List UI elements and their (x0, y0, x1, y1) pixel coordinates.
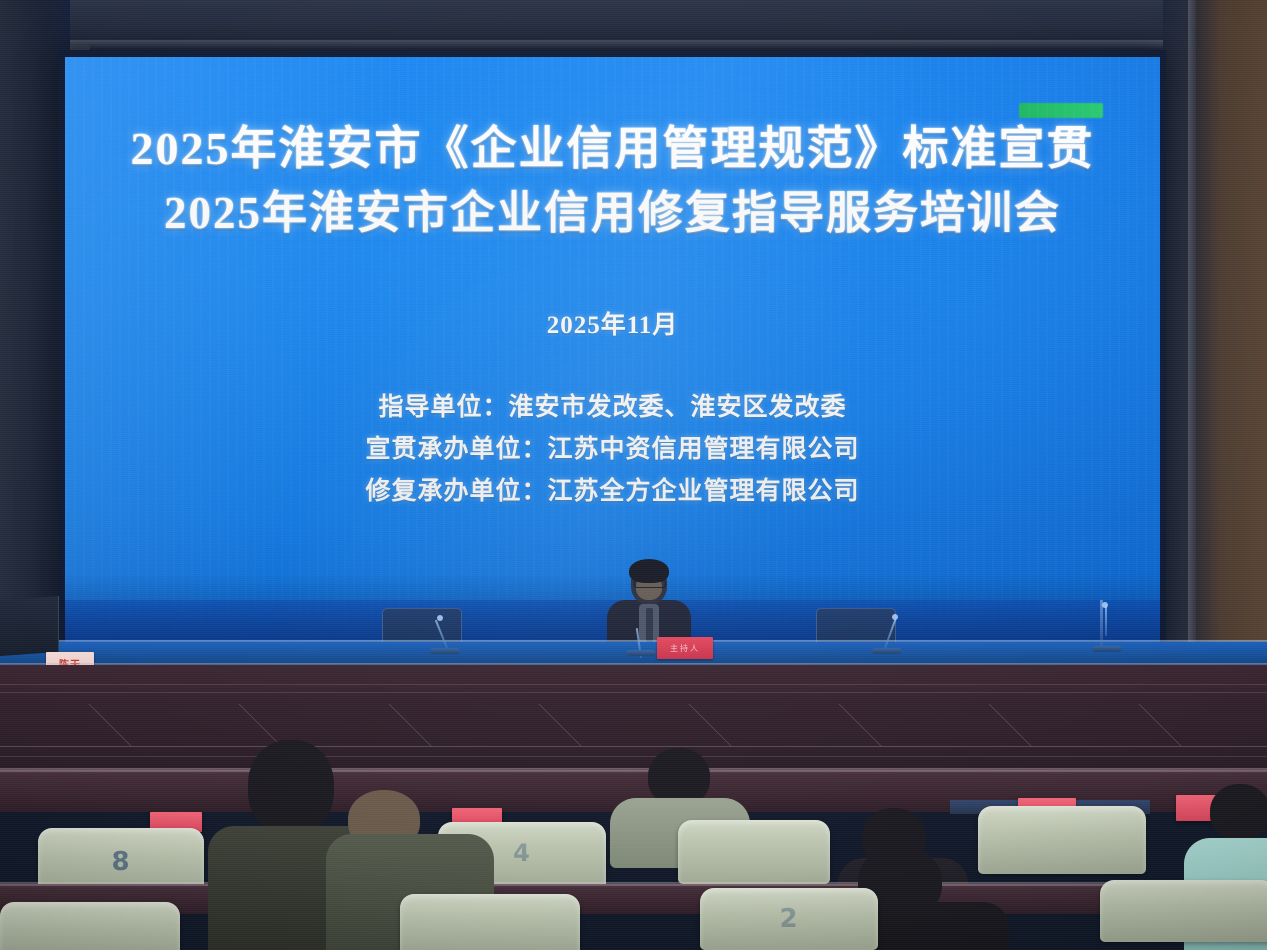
seat-number-8: 8 (38, 847, 204, 877)
audience-desk-row-near-top (0, 882, 1267, 887)
microphone-4-base (626, 650, 656, 656)
microphone-2-head (892, 614, 898, 620)
conference-hall-photo: 2025年淮安市《企业信用管理规范》标准宣贯 2025年淮安市企业信用修复指导服… (0, 0, 1267, 950)
slide-organizations: 指导单位：淮安市发改委、淮安区发改委 宣贯承办单位：江苏中资信用管理有限公司 修… (365, 387, 859, 507)
seat-number-2: 2 (700, 904, 878, 934)
org-line-promotion-host: 宣贯承办单位：江苏中资信用管理有限公司 (365, 429, 859, 465)
org-line-guidance: 指导单位：淮安市发改委、淮安区发改委 (378, 387, 846, 423)
audience-seatback-2[interactable]: 2 (700, 888, 878, 950)
slide-content: 2025年淮安市《企业信用管理规范》标准宣贯 2025年淮安市企业信用修复指导服… (65, 57, 1160, 643)
audience-desk-row-near (0, 884, 1267, 914)
audience-seatback-plain-1[interactable] (678, 820, 830, 884)
projection-screen: 2025年淮安市《企业信用管理规范》标准宣贯 2025年淮安市企业信用修复指导服… (65, 57, 1160, 643)
stage-mic-pole-right (1100, 600, 1103, 652)
microphone-1-base (430, 648, 460, 654)
audience-seatback-near-2[interactable] (400, 894, 580, 950)
ceiling-lip-highlight (0, 40, 1267, 50)
slide-date: 2025年11月 (547, 305, 679, 341)
microphone-1-head (437, 615, 443, 621)
speaker-glasses (634, 580, 666, 588)
speaker-tie (646, 608, 653, 642)
stage-trim-line-1 (0, 684, 1267, 685)
stage-trim-line-2 (0, 692, 1267, 693)
microphone-3-head (1102, 602, 1108, 608)
placard-speaker-label: 主持人 (670, 643, 700, 654)
stage-chevron-pattern (0, 700, 1267, 752)
audience-seatback-near-1[interactable] (0, 902, 180, 950)
audience-seatback-near-3[interactable] (1100, 880, 1267, 942)
org-line-repair-host: 修复承办单位：江苏全方企业管理有限公司 (365, 471, 859, 507)
microphone-3-stem (1105, 606, 1107, 636)
placard-speaker: 主持人 (657, 637, 713, 659)
slide-title-line-2: 2025年淮安市企业信用修复指导服务培训会 (164, 184, 1061, 243)
microphone-3-base (1092, 646, 1122, 652)
microphone-2-base (872, 648, 902, 654)
stage-monitor-left (0, 596, 59, 656)
slide-title-line-1: 2025年淮安市《企业信用管理规范》标准宣贯 (131, 119, 1095, 180)
